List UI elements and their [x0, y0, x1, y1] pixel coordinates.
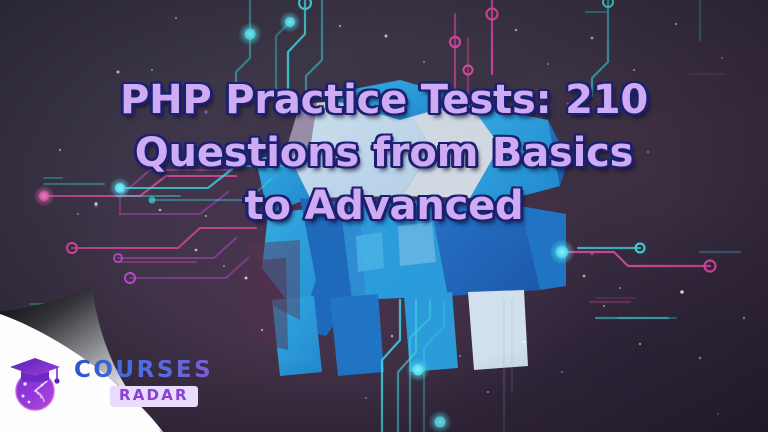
title-line-1: PHP Practice Tests: 210 [24, 74, 744, 127]
logo-secondary-badge: RADAR [110, 386, 198, 407]
graduation-cap-radar-icon [10, 352, 66, 414]
banner-image: PHP Practice Tests: 210 Questions from B… [0, 0, 768, 432]
brand-logo[interactable]: COURSES RADAR [10, 352, 213, 414]
title-line-3: to Advanced [24, 180, 744, 233]
logo-secondary-text: RADAR [119, 386, 189, 404]
title-line-2: Questions from Basics [24, 127, 744, 180]
logo-wordmark: COURSES RADAR [74, 359, 213, 407]
page-title: PHP Practice Tests: 210 Questions from B… [0, 74, 768, 233]
logo-primary-text: COURSES [74, 359, 213, 382]
